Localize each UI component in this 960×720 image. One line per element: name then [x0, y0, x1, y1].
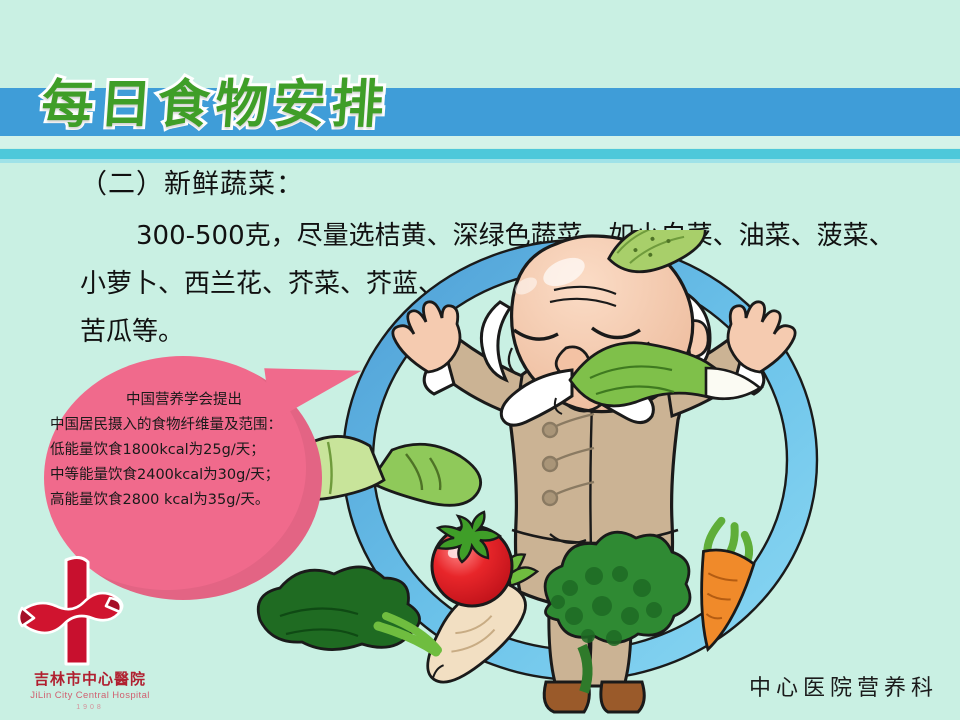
header-gap-band: [0, 136, 960, 148]
callout-line-2: 低能量饮食1800kcal为25g/天；: [50, 438, 318, 463]
shoe-right-icon: [601, 682, 644, 712]
page-title: 每日食物安排: [39, 62, 392, 137]
section-heading: （二）新鲜蔬菜：: [80, 162, 304, 201]
tomato-icon: [432, 512, 512, 606]
callout-line-3: 中等能量饮食2400kcal为30g/天；: [50, 463, 318, 488]
header-cyan-band: [0, 149, 960, 159]
callout-text: 中国营养学会提出 中国居民摄入的食物纤维量及范围： 低能量饮食1800kcal为…: [50, 388, 318, 513]
callout-line-1: 中国居民摄入的食物纤维量及范围：: [50, 413, 318, 438]
hospital-name-cn: 吉林市中心醫院: [20, 668, 160, 689]
hospital-name-en: JiLin City Central Hospital: [16, 690, 164, 701]
illustration-elderly-man: [250, 230, 960, 720]
page-title-text: 每日食物安排: [40, 75, 392, 135]
hospital-logo-icon: [14, 556, 164, 666]
footer-department: 中心医院营养科: [749, 670, 938, 702]
callout-line-4: 高能量饮食2800 kcal为35g/天。: [50, 488, 318, 513]
hospital-logo: 吉林市中心醫院 JiLin City Central Hospital 1908: [14, 556, 164, 716]
hospital-year: 1908: [16, 704, 164, 711]
slide-root: 每日食物安排 （二）新鲜蔬菜： 300-500克，尽量选桔黄、深绿色蔬菜，如小白…: [0, 0, 960, 720]
callout-title: 中国营养学会提出: [50, 388, 318, 413]
